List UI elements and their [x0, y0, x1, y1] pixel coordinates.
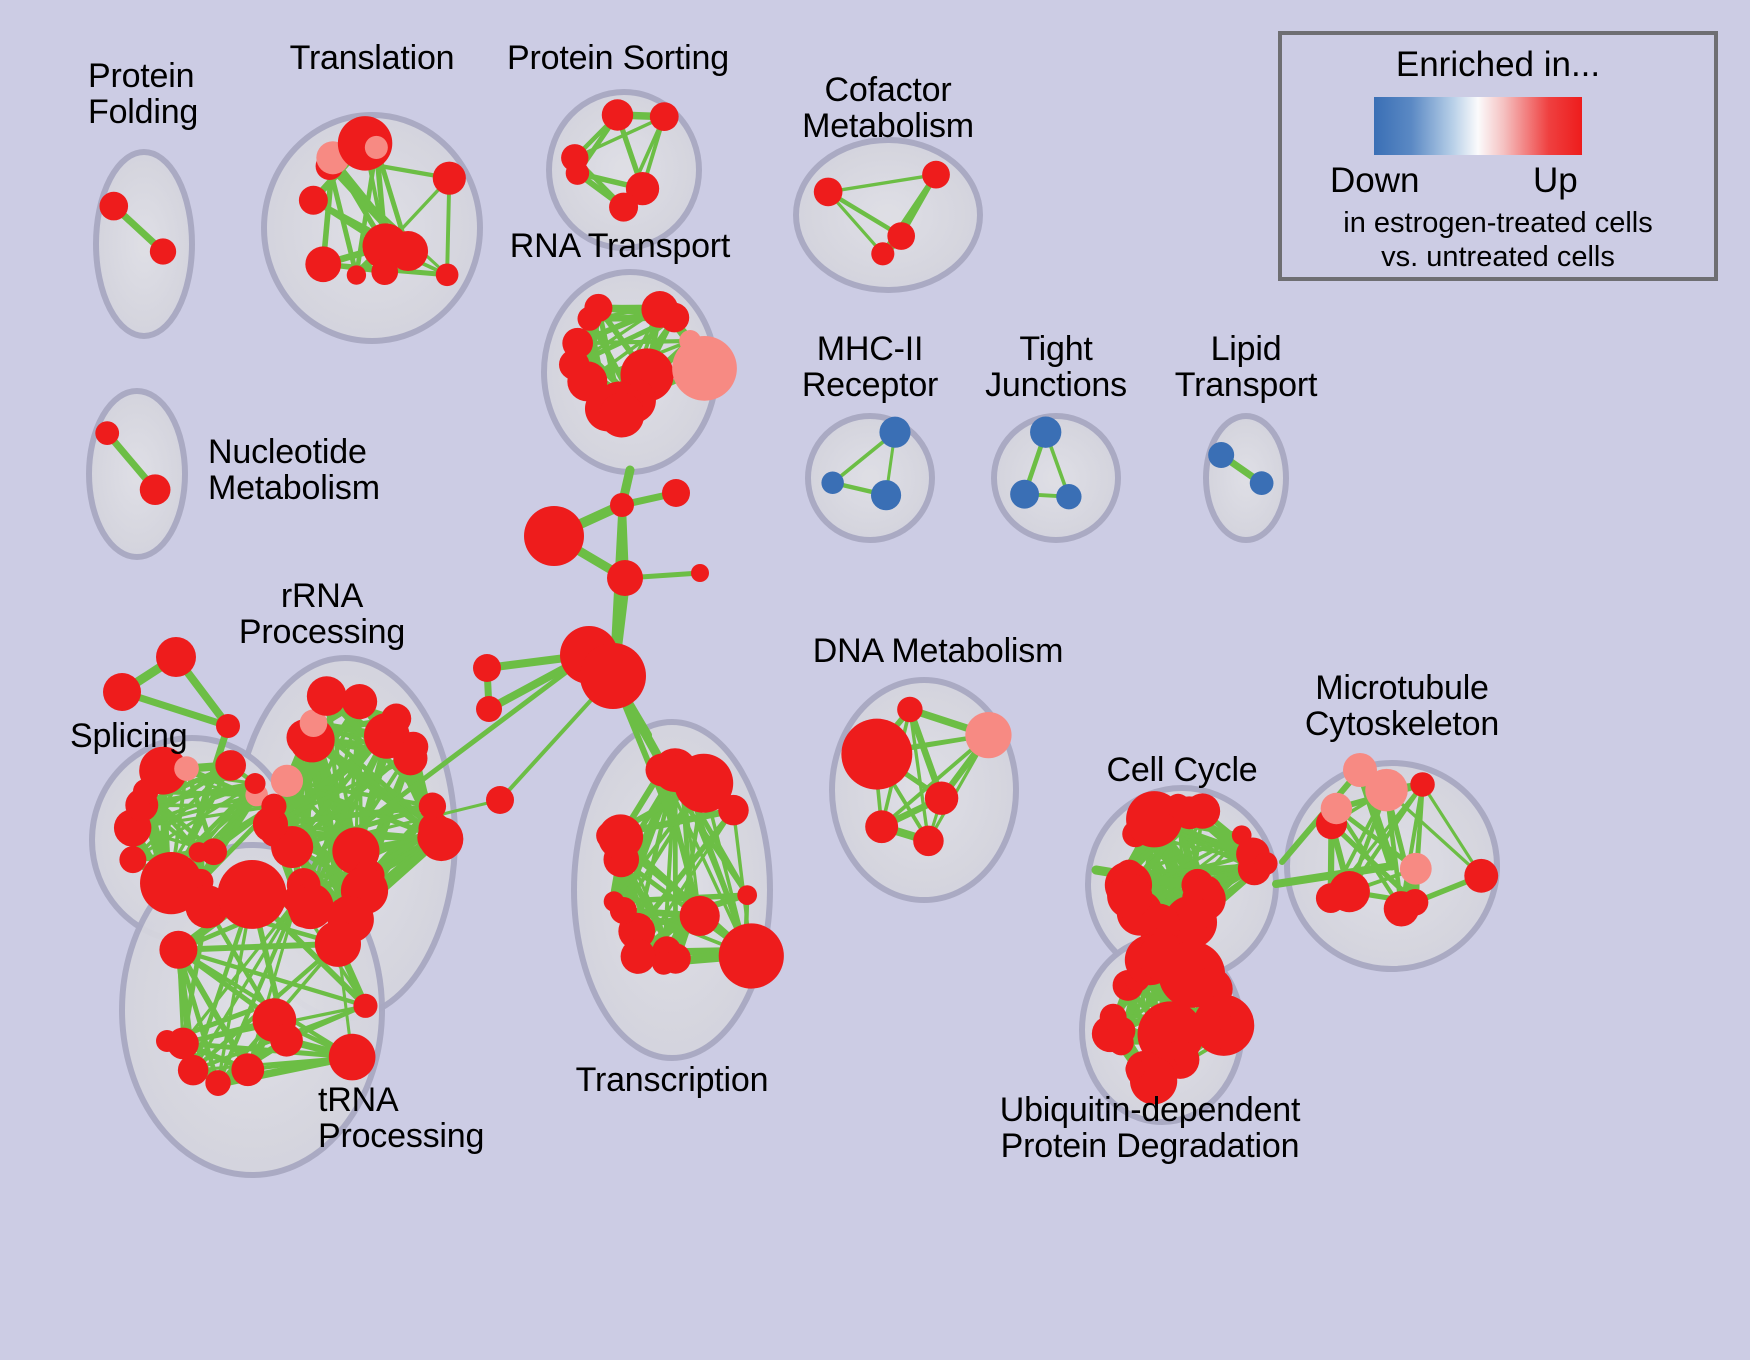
network-node-cofactor-metab [814, 178, 843, 207]
cluster-label-rna-transport: RNA Transport [510, 228, 730, 264]
network-node-tight-junctions [1010, 480, 1039, 509]
network-node-mhc-ii [871, 480, 901, 510]
cluster-label-mhc-ii: MHC-II Receptor [802, 331, 938, 404]
network-node-splicing [119, 846, 146, 873]
cluster-label-microtubule: Microtubule Cytoskeleton [1305, 670, 1499, 743]
network-node-bridge [662, 479, 690, 507]
network-node-trna-processing [353, 994, 377, 1018]
network-node-dna-metabolism [864, 742, 886, 764]
network-node-trna-processing [231, 1053, 264, 1086]
network-node-rna-transport [599, 393, 644, 438]
network-node-rrna-processing [307, 676, 347, 716]
network-node-bridge [610, 493, 634, 517]
network-node-nucleotide-metab [140, 474, 171, 505]
network-node-protein-sorting [561, 144, 588, 171]
network-node-dna-metabolism [965, 712, 1011, 758]
cluster-label-ubiquitin: Ubiquitin-dependent Protein Degradation [1000, 1092, 1301, 1165]
cluster-label-splicing: Splicing [70, 718, 187, 754]
cluster-label-protein-folding: Protein Folding [88, 58, 198, 131]
network-node-cofactor-metab [887, 222, 915, 250]
network-node-rrna-processing [342, 684, 377, 719]
network-node-rna-transport [584, 294, 612, 322]
cluster-label-lipid-transport: Lipid Transport [1175, 331, 1317, 404]
network-node-dna-metabolism [913, 826, 944, 857]
network-node-transcription [596, 822, 623, 849]
network-node-bridge [473, 654, 501, 682]
network-node-splicing [261, 794, 286, 819]
network-node-transcription [621, 939, 656, 974]
legend-subtitle-line2: vs. untreated cells [1282, 241, 1714, 274]
cluster-label-rrna-processing: rRNA Processing [239, 578, 405, 651]
network-node-lipid-transport [1208, 442, 1234, 468]
network-node-transcription [652, 952, 675, 975]
network-node-lipid-transport [1250, 471, 1274, 495]
network-node-cofactor-metab [922, 161, 950, 189]
network-node-splicing [245, 773, 266, 794]
network-node-cell-cycle [1254, 852, 1277, 875]
network-node-translation [347, 265, 366, 284]
network-edge [578, 341, 690, 343]
network-node-dna-metabolism [897, 697, 922, 722]
network-node-cofactor-metab [871, 242, 894, 265]
network-node-bridge [524, 506, 584, 566]
network-node-rna-transport [660, 303, 690, 333]
cluster-label-protein-sorting: Protein Sorting [507, 40, 729, 76]
legend-title: Enriched in... [1282, 45, 1714, 85]
network-node-bridge [156, 1030, 178, 1052]
network-node-transcription [604, 891, 624, 911]
network-node-dna-metabolism [925, 781, 958, 814]
cluster-label-cofactor-metab: Cofactor Metabolism [802, 72, 974, 145]
network-node-cell-cycle [1185, 793, 1220, 828]
cluster-halo-protein-folding [96, 152, 192, 336]
network-node-microtubule [1316, 883, 1346, 913]
network-node-cell-cycle [1116, 861, 1137, 882]
network-node-splicing [133, 779, 158, 804]
network-node-translation [436, 263, 459, 286]
network-node-splicing [215, 750, 246, 781]
network-node-microtubule [1384, 891, 1419, 926]
network-node-rrna-processing [419, 817, 463, 861]
network-node-dna-metabolism [865, 810, 898, 843]
cluster-label-transcription: Transcription [576, 1062, 769, 1098]
network-node-mhc-ii [821, 472, 843, 494]
network-node-rrna-processing [381, 704, 411, 734]
network-node-translation [305, 246, 341, 282]
network-node-bridge [476, 696, 502, 722]
network-node-microtubule [1410, 772, 1435, 797]
cluster-label-cell-cycle: Cell Cycle [1106, 752, 1257, 788]
network-node-protein-sorting [609, 193, 638, 222]
network-node-rrna-processing [271, 765, 303, 797]
network-figure: Protein FoldingTranslationProtein Sortin… [0, 0, 1750, 1360]
network-node-trna-processing [329, 1034, 376, 1081]
network-node-bridge [607, 560, 643, 596]
network-node-bridge [216, 714, 240, 738]
network-node-transcription [680, 896, 720, 936]
network-node-trna-processing [218, 860, 287, 929]
network-node-protein-folding [99, 192, 128, 221]
network-node-trna-processing [270, 1024, 303, 1057]
network-node-translation [371, 258, 398, 285]
cluster-label-trna-processing: tRNA Processing [318, 1082, 484, 1155]
cluster-label-nucleotide-metab: Nucleotide Metabolism [208, 434, 380, 507]
network-node-protein-sorting [650, 102, 679, 131]
legend-subtitle-line1: in estrogen-treated cells [1282, 207, 1714, 240]
cluster-label-dna-metabolism: DNA Metabolism [813, 633, 1063, 669]
cluster-halo-cofactor-metab [796, 140, 980, 290]
cluster-halo-lipid-transport [1206, 416, 1286, 540]
network-node-translation [433, 162, 466, 195]
legend-box: Enriched in... Down Up in estrogen-treat… [1278, 31, 1718, 281]
network-node-transcription [718, 795, 749, 826]
network-node-trna-processing [159, 931, 197, 969]
cluster-label-tight-junctions: Tight Junctions [985, 331, 1127, 404]
network-node-ubiquitin [1214, 1029, 1235, 1050]
network-node-transcription [737, 885, 757, 905]
network-node-trna-processing [315, 921, 361, 967]
cluster-halo-nucleotide-metab [89, 391, 185, 557]
network-node-splicing [200, 838, 227, 865]
network-node-bridge [486, 786, 514, 814]
network-node-trna-processing [283, 885, 311, 913]
network-node-bridge [691, 564, 709, 582]
network-node-transcription [719, 923, 784, 988]
network-node-nucleotide-metab [95, 421, 119, 445]
network-node-rna-transport [672, 336, 737, 401]
legend-color-bar [1374, 97, 1582, 155]
network-node-rrna-processing [393, 741, 427, 775]
network-node-microtubule [1321, 793, 1352, 824]
network-node-tight-junctions [1030, 417, 1061, 448]
network-node-splicing [174, 756, 199, 781]
network-node-translation [299, 186, 328, 215]
network-node-tight-junctions [1056, 484, 1081, 509]
network-node-protein-folding [150, 238, 176, 264]
network-node-trna-processing [206, 1073, 229, 1096]
network-node-bridge [1343, 753, 1377, 787]
network-node-bridge [580, 643, 646, 709]
network-node-microtubule [1464, 859, 1498, 893]
network-node-bridge [103, 673, 141, 711]
network-node-mhc-ii [879, 417, 910, 448]
network-node-ubiquitin [1125, 1059, 1145, 1079]
cluster-label-translation: Translation [290, 40, 455, 76]
network-node-trna-processing [178, 1055, 209, 1086]
network-node-translation [365, 136, 388, 159]
legend-high-label: Up [1533, 161, 1578, 201]
network-node-protein-sorting [602, 99, 633, 130]
network-node-microtubule [1400, 853, 1432, 885]
network-node-rna-transport [562, 328, 593, 359]
network-node-ubiquitin [1100, 1004, 1127, 1031]
legend-low-label: Down [1330, 161, 1419, 201]
network-node-bridge [156, 637, 196, 677]
